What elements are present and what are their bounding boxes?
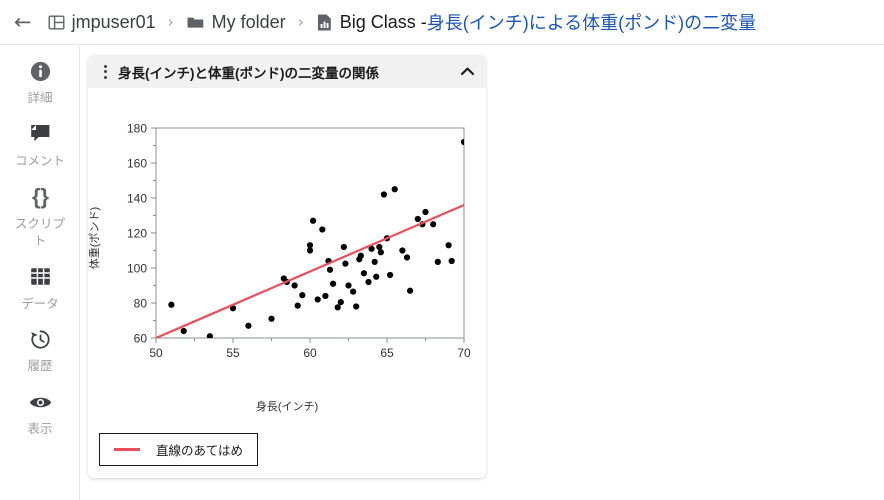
svg-text:180: 180: [127, 122, 147, 136]
scatter-plot[interactable]: 60801001201401601805055606570 体重(ポンド) 身長…: [88, 88, 486, 388]
sidebar-item-comments[interactable]: コメント: [0, 119, 80, 170]
sidebar-item-scripts[interactable]: { } スクリプト: [0, 182, 80, 250]
breadcrumb-separator-2: ›: [298, 13, 304, 31]
svg-text:70: 70: [457, 346, 471, 360]
breadcrumb-label-report-jp: 身長(インチ)による体重(ポンド)の二変量: [427, 9, 756, 35]
sidebar-item-history[interactable]: 履歴: [0, 324, 80, 375]
sidebar-label-data: データ: [9, 296, 71, 313]
legend-label: 直線のあてはめ: [156, 440, 243, 459]
breadcrumb-bar: ← jmpuser01 › My folder ›: [0, 0, 884, 45]
breadcrumb-item-folder[interactable]: My folder: [186, 12, 286, 33]
report-chart-icon: [316, 13, 333, 32]
sidebar-label-comments: コメント: [9, 153, 71, 170]
space-layout-icon: [48, 14, 65, 31]
svg-text:80: 80: [134, 297, 148, 311]
svg-text:100: 100: [127, 262, 147, 276]
panel-body: 60801001201401601805055606570 体重(ポンド) 身長…: [88, 88, 486, 478]
breadcrumb-label-folder: My folder: [212, 12, 286, 33]
data-grid-icon: [29, 262, 52, 292]
x-axis-title: 身長(インチ): [88, 398, 486, 414]
sidebar-item-view[interactable]: 表示: [0, 387, 80, 438]
plot-legend[interactable]: 直線のあてはめ: [99, 433, 258, 466]
breadcrumb-label-report: Big Class -: [340, 12, 427, 33]
legend-color-swatch: [114, 448, 140, 451]
svg-text:120: 120: [127, 227, 147, 241]
svg-text:55: 55: [226, 346, 240, 360]
chevron-up-icon[interactable]: [459, 65, 476, 78]
folder-icon: [186, 14, 205, 31]
svg-text:160: 160: [127, 157, 147, 171]
panel-title: 身長(インチ)と体重(ポンド)の二変量の関係: [118, 62, 459, 82]
sidebar-label-scripts: スクリプト: [9, 216, 71, 250]
breadcrumb-separator: ›: [168, 13, 174, 31]
svg-text:140: 140: [127, 192, 147, 206]
plot-canvas[interactable]: 60801001201401601805055606570: [88, 88, 486, 388]
y-axis-title: 体重(ポンド): [88, 178, 102, 298]
svg-text:50: 50: [149, 346, 163, 360]
svg-text:60: 60: [134, 332, 148, 346]
svg-text:65: 65: [380, 346, 394, 360]
breadcrumb-item-space[interactable]: jmpuser01: [48, 12, 156, 33]
sidebar-label-history: 履歴: [9, 358, 71, 375]
left-sidebar: 詳細 コメント { } スクリプト: [0, 46, 80, 500]
breadcrumb-label-space: jmpuser01: [72, 12, 156, 33]
svg-text:60: 60: [303, 346, 317, 360]
report-panel: 身長(インチ)と体重(ポンド)の二変量の関係 60801001201401601…: [88, 55, 486, 478]
panel-header: 身長(インチ)と体重(ポンド)の二変量の関係: [88, 55, 486, 88]
sidebar-label-view: 表示: [9, 421, 71, 438]
breadcrumb-item-report[interactable]: Big Class - 身長(インチ)による体重(ポンド)の二変量: [316, 9, 756, 35]
comment-icon: [28, 119, 53, 149]
back-arrow-icon[interactable]: ←: [14, 12, 32, 33]
kebab-menu-icon[interactable]: [98, 65, 112, 79]
sidebar-item-details[interactable]: 詳細: [0, 56, 80, 107]
sidebar-label-details: 詳細: [9, 90, 71, 107]
eye-icon: [28, 387, 53, 417]
info-icon: [29, 56, 52, 86]
history-clock-icon: [29, 324, 52, 354]
sidebar-item-data[interactable]: データ: [0, 262, 80, 313]
script-braces-icon: { }: [32, 182, 48, 212]
